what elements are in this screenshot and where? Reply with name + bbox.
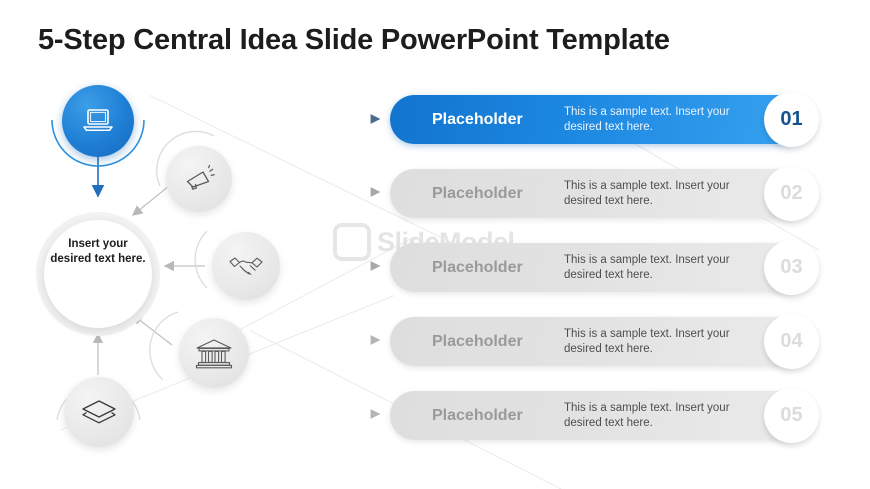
step-title: Placeholder [432, 185, 523, 203]
step-body: This is a sample text. Insert your desir… [564, 327, 754, 357]
step-number-badge: 04 [764, 314, 819, 369]
step-row[interactable]: Placeholder This is a sample text. Inser… [390, 391, 808, 440]
step-number-badge: 05 [764, 388, 819, 443]
step-body: This is a sample text. Insert your desir… [564, 253, 754, 283]
node-bank[interactable] [179, 318, 249, 388]
node-layers[interactable] [64, 377, 134, 447]
node-laptop[interactable] [62, 85, 134, 157]
bank-icon [194, 336, 234, 370]
laptop-icon [81, 106, 115, 136]
handshake-icon [227, 253, 265, 279]
slidemodel-logo-icon [333, 223, 371, 261]
node-megaphone[interactable] [166, 146, 232, 212]
step-body: This is a sample text. Insert your desir… [564, 105, 754, 135]
step-title: Placeholder [432, 333, 523, 351]
step-number-badge: 01 [764, 92, 819, 147]
step-row[interactable]: Placeholder This is a sample text. Inser… [390, 317, 808, 366]
step-title: Placeholder [432, 259, 523, 277]
step-body: This is a sample text. Insert your desir… [564, 401, 754, 431]
step-number-badge: 03 [764, 240, 819, 295]
node-handshake[interactable] [212, 232, 280, 300]
step-row[interactable]: Placeholder This is a sample text. Inser… [390, 243, 808, 292]
step-title: Placeholder [432, 111, 523, 129]
layers-icon [79, 397, 119, 427]
step-row[interactable]: Placeholder This is a sample text. Inser… [390, 95, 808, 144]
step-title: Placeholder [432, 407, 523, 425]
center-node-label: Insert your desired text here. [50, 237, 146, 267]
page-title: 5-Step Central Idea Slide PowerPoint Tem… [38, 24, 670, 57]
megaphone-icon [182, 164, 216, 194]
slide-canvas: 5-Step Central Idea Slide PowerPoint Tem… [0, 0, 870, 489]
step-body: This is a sample text. Insert your desir… [564, 179, 754, 209]
step-row[interactable]: Placeholder This is a sample text. Inser… [390, 169, 808, 218]
step-number-badge: 02 [764, 166, 819, 221]
